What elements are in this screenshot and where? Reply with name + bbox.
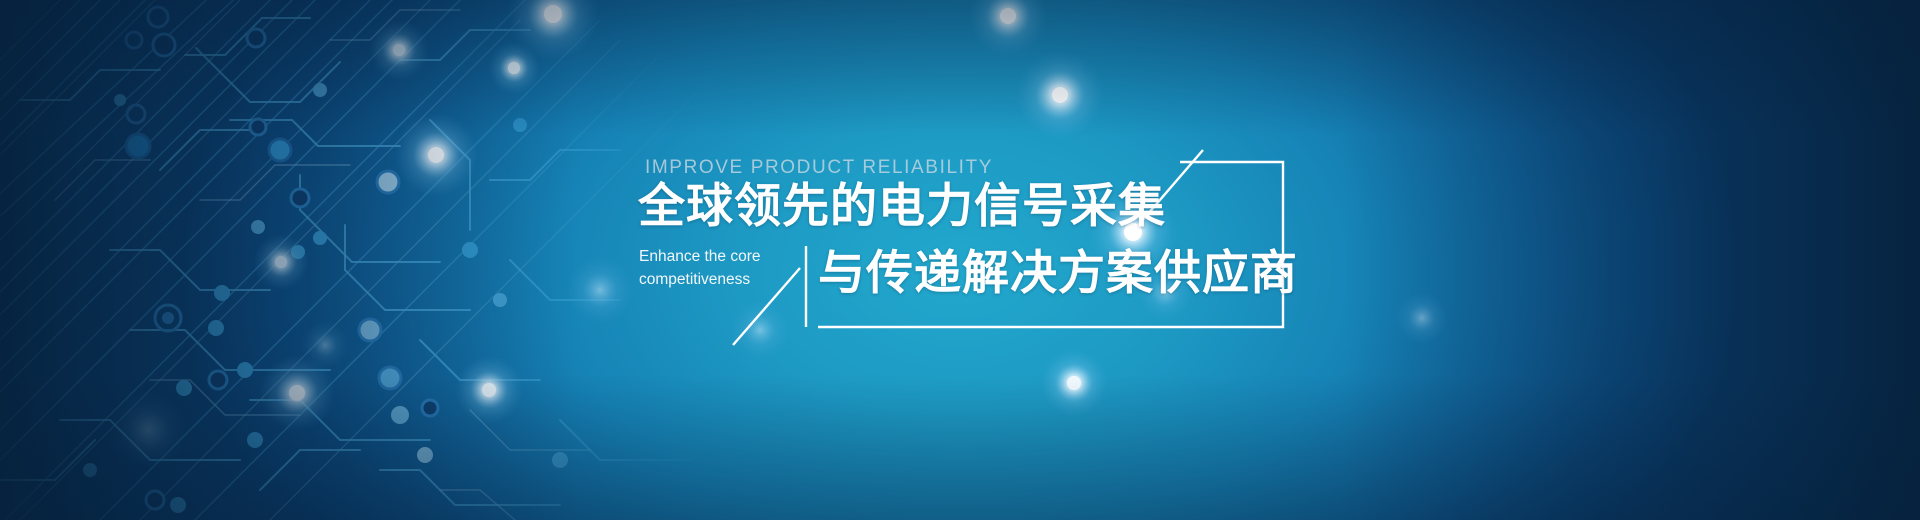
- subtitle-block: Enhance the core competitiveness: [639, 245, 809, 291]
- headline-line-2: 与传递解决方案供应商: [818, 243, 1298, 303]
- headline-line-1: 全球领先的电力信号采集: [638, 176, 1166, 236]
- banner-content: IMPROVE PRODUCT RELIABILITY 全球领先的电力信号采集 …: [0, 0, 1920, 520]
- hero-banner: IMPROVE PRODUCT RELIABILITY 全球领先的电力信号采集 …: [0, 0, 1920, 520]
- subtitle-line-1: Enhance the core: [639, 245, 809, 268]
- subtitle-line-2: competitiveness: [639, 268, 809, 291]
